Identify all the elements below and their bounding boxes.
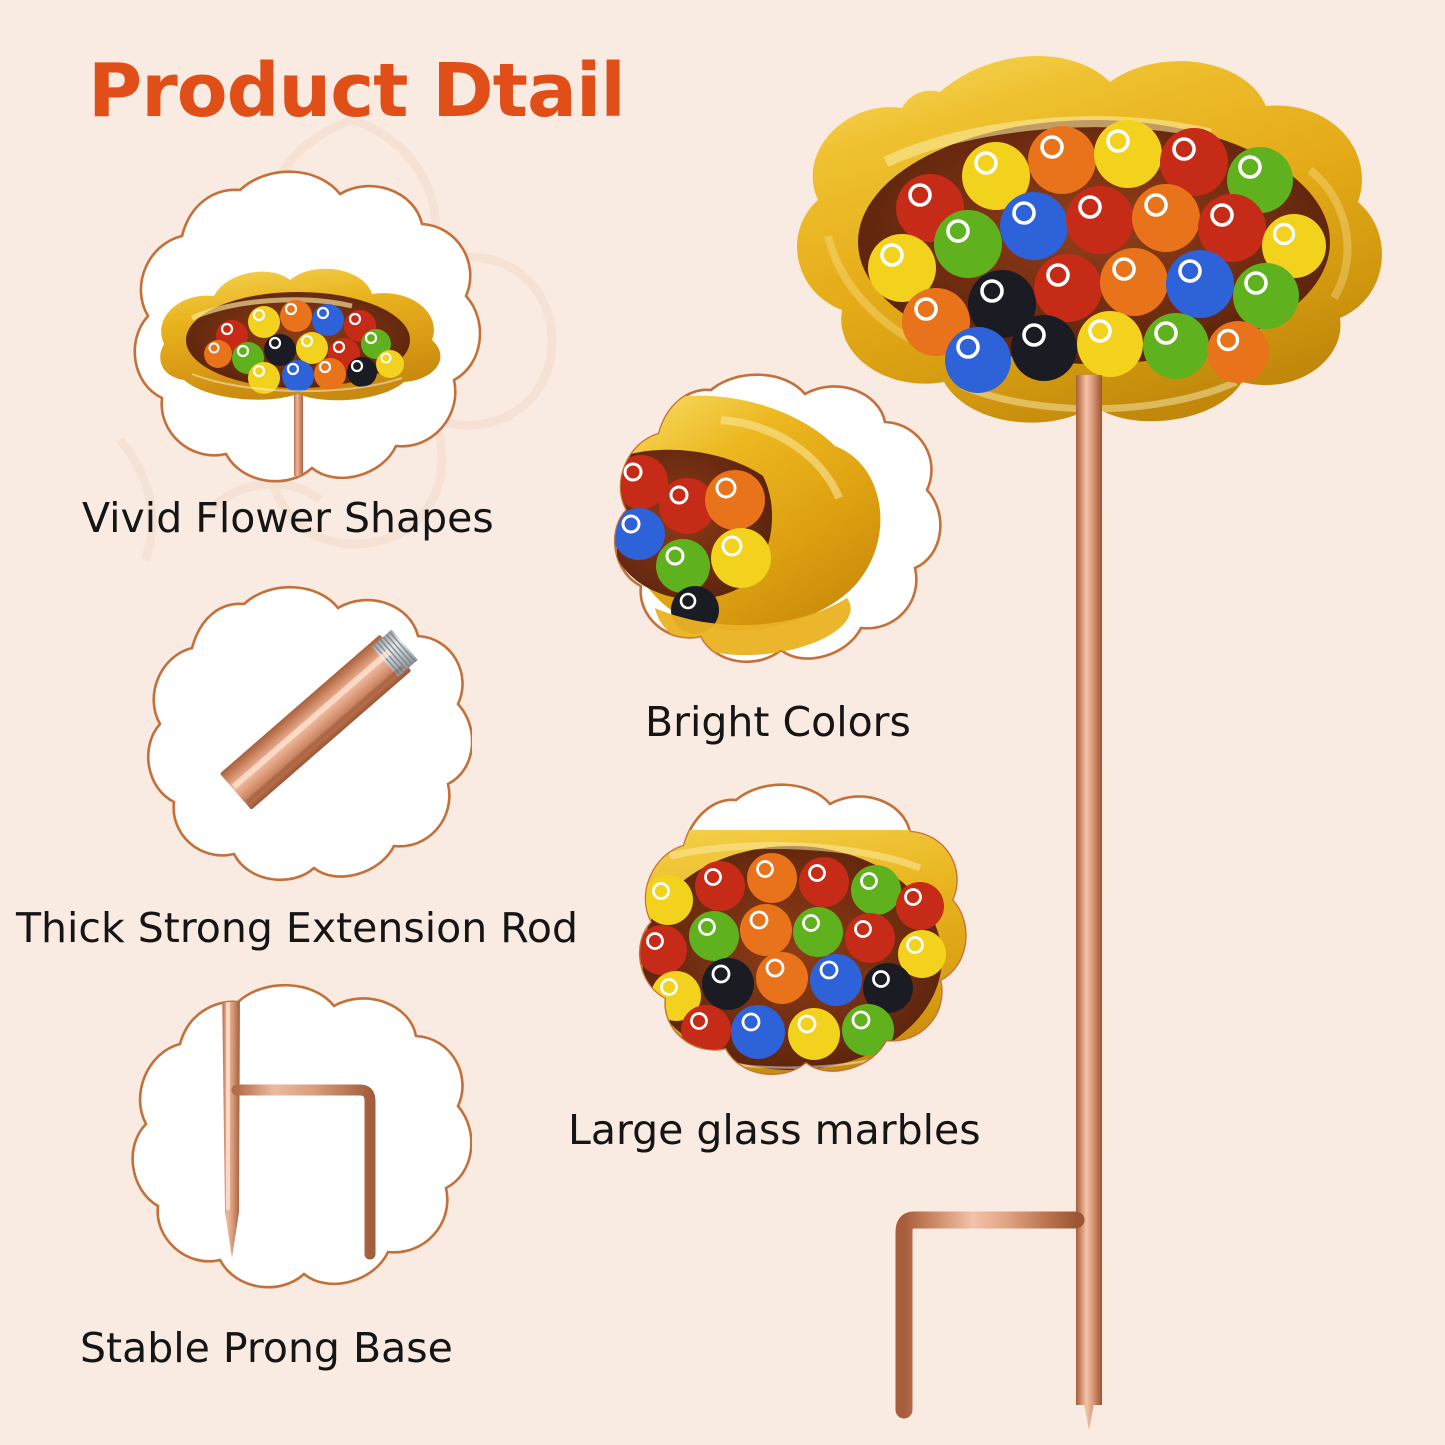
hero-product-glass-flower-bird-bath <box>690 30 1430 1430</box>
callout-thick-strong-extension-rod <box>132 584 472 902</box>
caption-thick-strong-extension-rod: Thick Strong Extension Rod <box>16 904 578 952</box>
caption-vivid-flower-shapes: Vivid Flower Shapes <box>82 494 494 542</box>
copper-extension-rod <box>1076 375 1102 1405</box>
page-title: Product Dtail <box>88 48 625 134</box>
callout-stable-prong-base <box>122 982 472 1312</box>
callout-vivid-flower-shapes <box>122 168 482 498</box>
amber-glass-flower-dish <box>797 56 1382 423</box>
caption-stable-prong-base: Stable Prong Base <box>80 1324 453 1372</box>
callout-bubble-shape <box>133 985 472 1287</box>
prong-ground-stake-base <box>904 1220 1102 1430</box>
infographic-canvas: Product Dtail <box>0 0 1445 1445</box>
